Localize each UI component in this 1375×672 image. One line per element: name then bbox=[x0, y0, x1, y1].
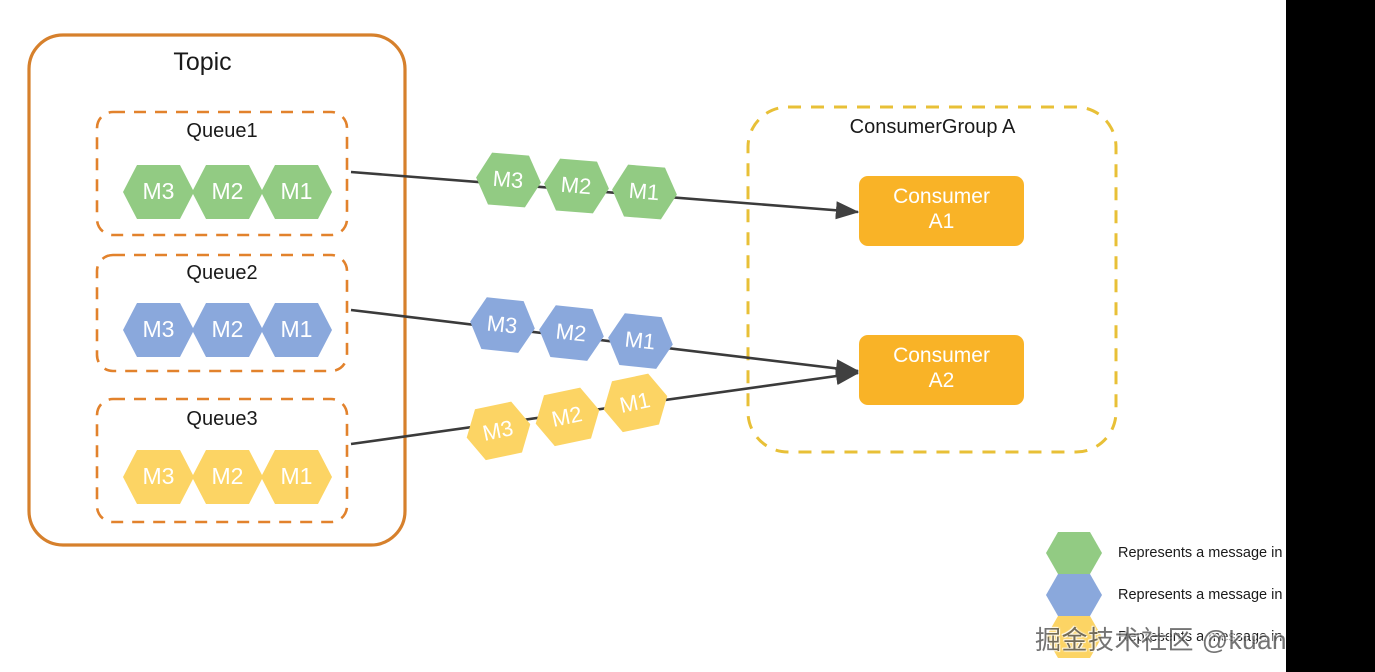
legend-label-blue: Represents a message in bbox=[1118, 587, 1282, 603]
consumer-group-title: ConsumerGroup A bbox=[745, 116, 1120, 139]
hex-label-queue3-m1: M1 bbox=[261, 463, 332, 490]
hex-label-flight-green-m1: M1 bbox=[608, 176, 680, 207]
legend-hex-green bbox=[1046, 532, 1102, 574]
diagram-canvas: Topic Queue1 Queue2 Queue3 ConsumerGroup… bbox=[0, 0, 1375, 672]
hex-label-queue1-m1: M1 bbox=[261, 178, 332, 205]
hex-label-queue2-m1: M1 bbox=[261, 316, 332, 343]
consumer-a1-label: Consumer A1 bbox=[859, 185, 1024, 235]
legend-hex-blue bbox=[1046, 574, 1102, 616]
hex-label-flight-green-m3: M3 bbox=[472, 164, 544, 195]
hex-label-flight-green-m2: M2 bbox=[540, 170, 612, 201]
black-band bbox=[1286, 0, 1375, 672]
hex-label-queue1-m3: M3 bbox=[123, 178, 194, 205]
hex-label-queue3-m3: M3 bbox=[123, 463, 194, 490]
legend-label-green: Represents a message in bbox=[1118, 545, 1282, 561]
hex-label-queue2-m2: M2 bbox=[192, 316, 263, 343]
consumer-a2-label: Consumer A2 bbox=[859, 344, 1024, 394]
queue3-title: Queue3 bbox=[97, 408, 347, 431]
topic-title: Topic bbox=[0, 48, 405, 77]
hex-label-queue2-m3: M3 bbox=[123, 316, 194, 343]
hex-label-queue1-m2: M2 bbox=[192, 178, 263, 205]
hex-label-queue3-m2: M2 bbox=[192, 463, 263, 490]
queue2-title: Queue2 bbox=[97, 262, 347, 285]
queue1-title: Queue1 bbox=[97, 120, 347, 143]
